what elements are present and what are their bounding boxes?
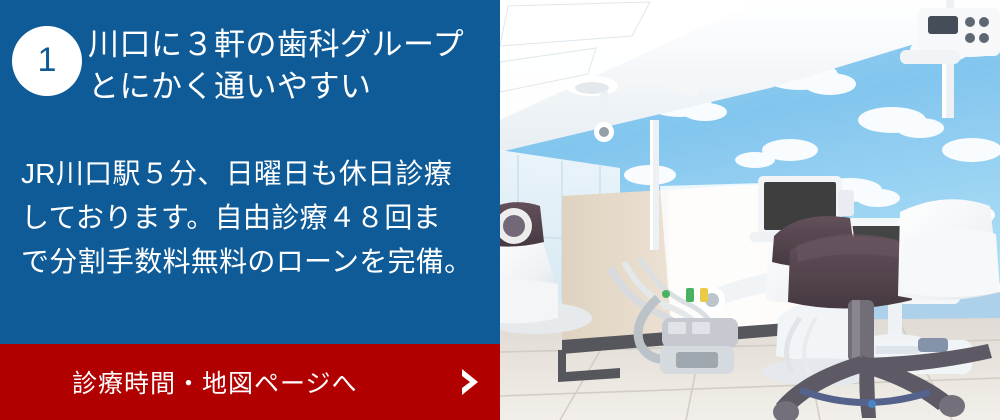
headline-line-1: 川口に３軒の歯科グループ — [88, 24, 498, 66]
body-line-1: JR川口駅５分、日曜日も休日診療 — [21, 152, 499, 196]
body-line-2: しております。自由診療４８回ま — [21, 196, 499, 240]
body-copy: JR川口駅５分、日曜日も休日診療 しております。自由診療４８回ま で分割手数料無… — [21, 152, 499, 284]
info-panel: 1 川口に３軒の歯科グループ とにかく通いやすい JR川口駅５分、日曜日も休日診… — [0, 0, 500, 420]
cta-label: 診療時間・地図ページへ — [72, 344, 358, 420]
clinic-photo — [500, 0, 1000, 420]
promo-banner: 1 川口に３軒の歯科グループ とにかく通いやすい JR川口駅５分、日曜日も休日診… — [0, 0, 1000, 420]
hours-and-map-cta-button[interactable]: 診療時間・地図ページへ — [0, 344, 500, 420]
headline-line-2: とにかく通いやすい — [88, 66, 498, 108]
step-number-label: 1 — [38, 43, 57, 77]
chevron-right-icon — [459, 344, 483, 420]
headline: 川口に３軒の歯科グループ とにかく通いやすい — [88, 24, 498, 108]
step-number-badge: 1 — [12, 26, 82, 96]
body-line-3: で分割手数料無料のローンを完備。 — [21, 240, 499, 284]
